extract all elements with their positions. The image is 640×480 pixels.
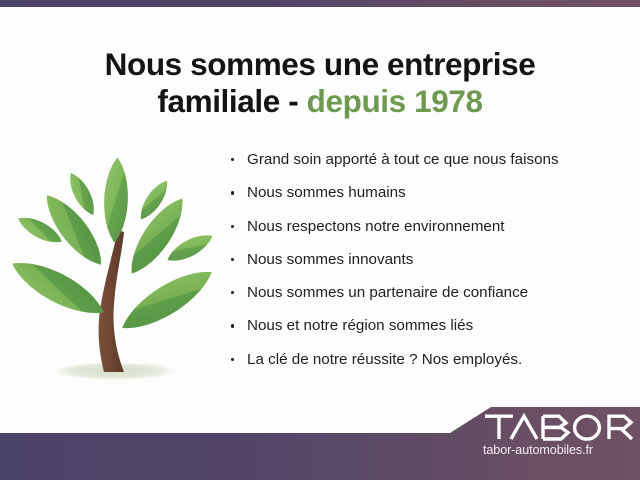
headline-line-2-prefix: familiale <box>157 83 279 119</box>
list-item: Nous respectons notre environnement <box>228 217 628 237</box>
headline-dash: - <box>280 83 307 119</box>
list-item-label: Nous et notre région sommes liés <box>247 317 473 334</box>
headline-line-1: Nous sommes une entreprise <box>105 46 536 82</box>
list-item: Nous sommes un partenaire de confiance <box>228 283 628 303</box>
headline-line-2: familiale - depuis 1978 <box>0 83 640 120</box>
bullet-dot-icon <box>231 258 234 261</box>
top-accent-bar <box>0 0 640 7</box>
list-item: La clé de notre réussite ? Nos employés. <box>228 350 628 370</box>
tree-trunk <box>99 230 124 372</box>
footer-band: tabor-automobiles.fr <box>0 400 640 480</box>
bullet-dot-icon <box>231 358 234 361</box>
list-item-label: Nous sommes humains <box>247 184 406 201</box>
list-item-label: Grand soin apporté à tout ce que nous fa… <box>247 151 559 168</box>
tree-illustration <box>12 152 218 388</box>
logo-tagline: tabor-automobiles.fr <box>483 443 635 457</box>
bullet-dot-icon <box>231 158 234 161</box>
headline-accent: depuis 1978 <box>307 83 483 119</box>
list-item-label: Nous respectons notre environnement <box>247 218 505 235</box>
list-item-label: La clé de notre réussite ? Nos employés. <box>247 351 522 368</box>
list-item: Nous sommes humains <box>228 183 628 203</box>
list-item-label: Nous sommes un partenaire de confiance <box>247 284 528 301</box>
slide-canvas: Nous sommes une entreprise familiale - d… <box>0 0 640 480</box>
list-item-label: Nous sommes innovants <box>247 251 413 268</box>
brand-logo[interactable]: tabor-automobiles.fr <box>483 412 635 457</box>
bullet-dot-icon <box>231 291 234 294</box>
list-item: Nous sommes innovants <box>228 250 628 270</box>
list-item: Grand soin apporté à tout ce que nous fa… <box>228 150 628 170</box>
bullet-dot-icon <box>231 191 234 194</box>
bullet-dot-icon <box>231 324 234 327</box>
list-item: Nous et notre région sommes liés <box>228 316 628 336</box>
page-title: Nous sommes une entreprise familiale - d… <box>0 46 640 120</box>
benefits-list: Grand soin apporté à tout ce que nous fa… <box>228 150 628 383</box>
logo-wordmark <box>483 412 635 442</box>
bullet-dot-icon <box>231 225 234 228</box>
